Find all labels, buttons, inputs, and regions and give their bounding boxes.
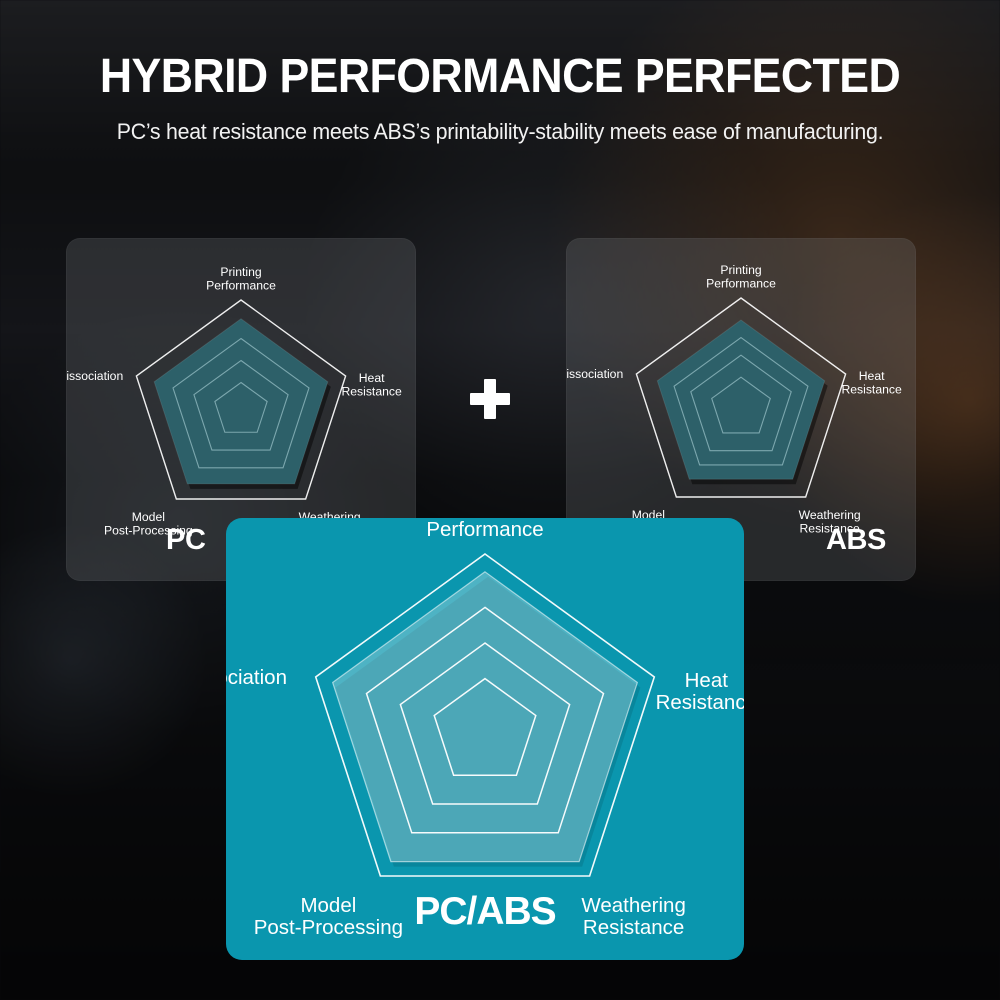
plus-icon — [468, 377, 512, 421]
radar-axis-label: PrintingPerformance — [206, 265, 276, 293]
card-label-abs: ABS — [826, 524, 886, 557]
radar-axis-label: PrintingPerformance — [426, 518, 543, 541]
page-title: HYBRID PERFORMANCE PERFECTED — [35, 52, 965, 102]
radar-axis-label: Dissociation — [226, 666, 287, 689]
radar-axis-label: Dissociation — [66, 369, 123, 383]
card-label-pcabs: PC/ABS — [226, 890, 744, 934]
material-card-pcabs[interactable]: PrintingPerformanceHeatResistanceWeather… — [226, 518, 744, 960]
radar-axis-label: HeatResistance — [341, 371, 402, 399]
radar-axis-label: Dissociation — [566, 367, 623, 381]
radar-data-polygon — [657, 320, 824, 479]
radar-axis-label: PrintingPerformance — [706, 263, 776, 291]
header: HYBRID PERFORMANCE PERFECTED PC’s heat r… — [0, 52, 1000, 145]
radar-axis-label: HeatResistance — [841, 369, 902, 397]
card-label-pc: PC — [166, 524, 206, 557]
radar-axis-label: HeatResistance — [656, 669, 744, 714]
radar-data-polygon — [333, 572, 638, 862]
page-subtitle: PC’s heat resistance meets ABS’s printab… — [25, 118, 975, 145]
